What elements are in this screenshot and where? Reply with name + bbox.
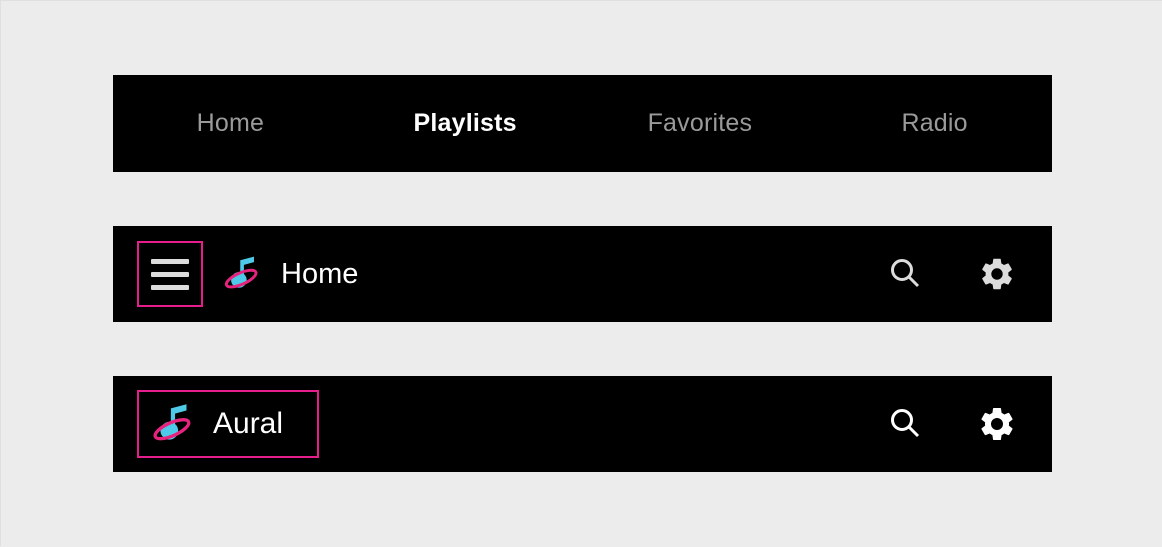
brand-row: Home bbox=[221, 226, 358, 322]
app-bar-title: Aural bbox=[213, 409, 283, 439]
gear-icon[interactable] bbox=[976, 403, 1018, 445]
aural-planet-note-logo-icon bbox=[149, 399, 199, 449]
app-bar-home: Home bbox=[113, 226, 1052, 322]
hamburger-line-3 bbox=[151, 285, 189, 290]
search-icon[interactable] bbox=[884, 403, 926, 445]
tab-home[interactable]: Home bbox=[113, 111, 348, 136]
tab-bar: Home Playlists Favorites Radio bbox=[113, 75, 1052, 172]
app-screen: Home Playlists Favorites Radio Home bbox=[1, 1, 1162, 547]
search-icon[interactable] bbox=[884, 253, 926, 295]
hamburger-line-1 bbox=[151, 259, 189, 264]
tab-radio[interactable]: Radio bbox=[817, 111, 1052, 136]
tab-playlists[interactable]: Playlists bbox=[348, 111, 583, 136]
app-bar-title: Home bbox=[281, 260, 358, 289]
app-bar-actions bbox=[884, 376, 1052, 472]
aural-planet-note-logo-icon bbox=[221, 252, 265, 296]
gear-icon[interactable] bbox=[976, 253, 1018, 295]
tab-favorites[interactable]: Favorites bbox=[583, 111, 818, 136]
brand-box[interactable]: Aural bbox=[137, 390, 319, 458]
app-bar-actions bbox=[884, 226, 1052, 322]
hamburger-line-2 bbox=[151, 272, 189, 277]
app-bar-aural: Aural bbox=[113, 376, 1052, 472]
hamburger-icon[interactable] bbox=[137, 241, 203, 307]
